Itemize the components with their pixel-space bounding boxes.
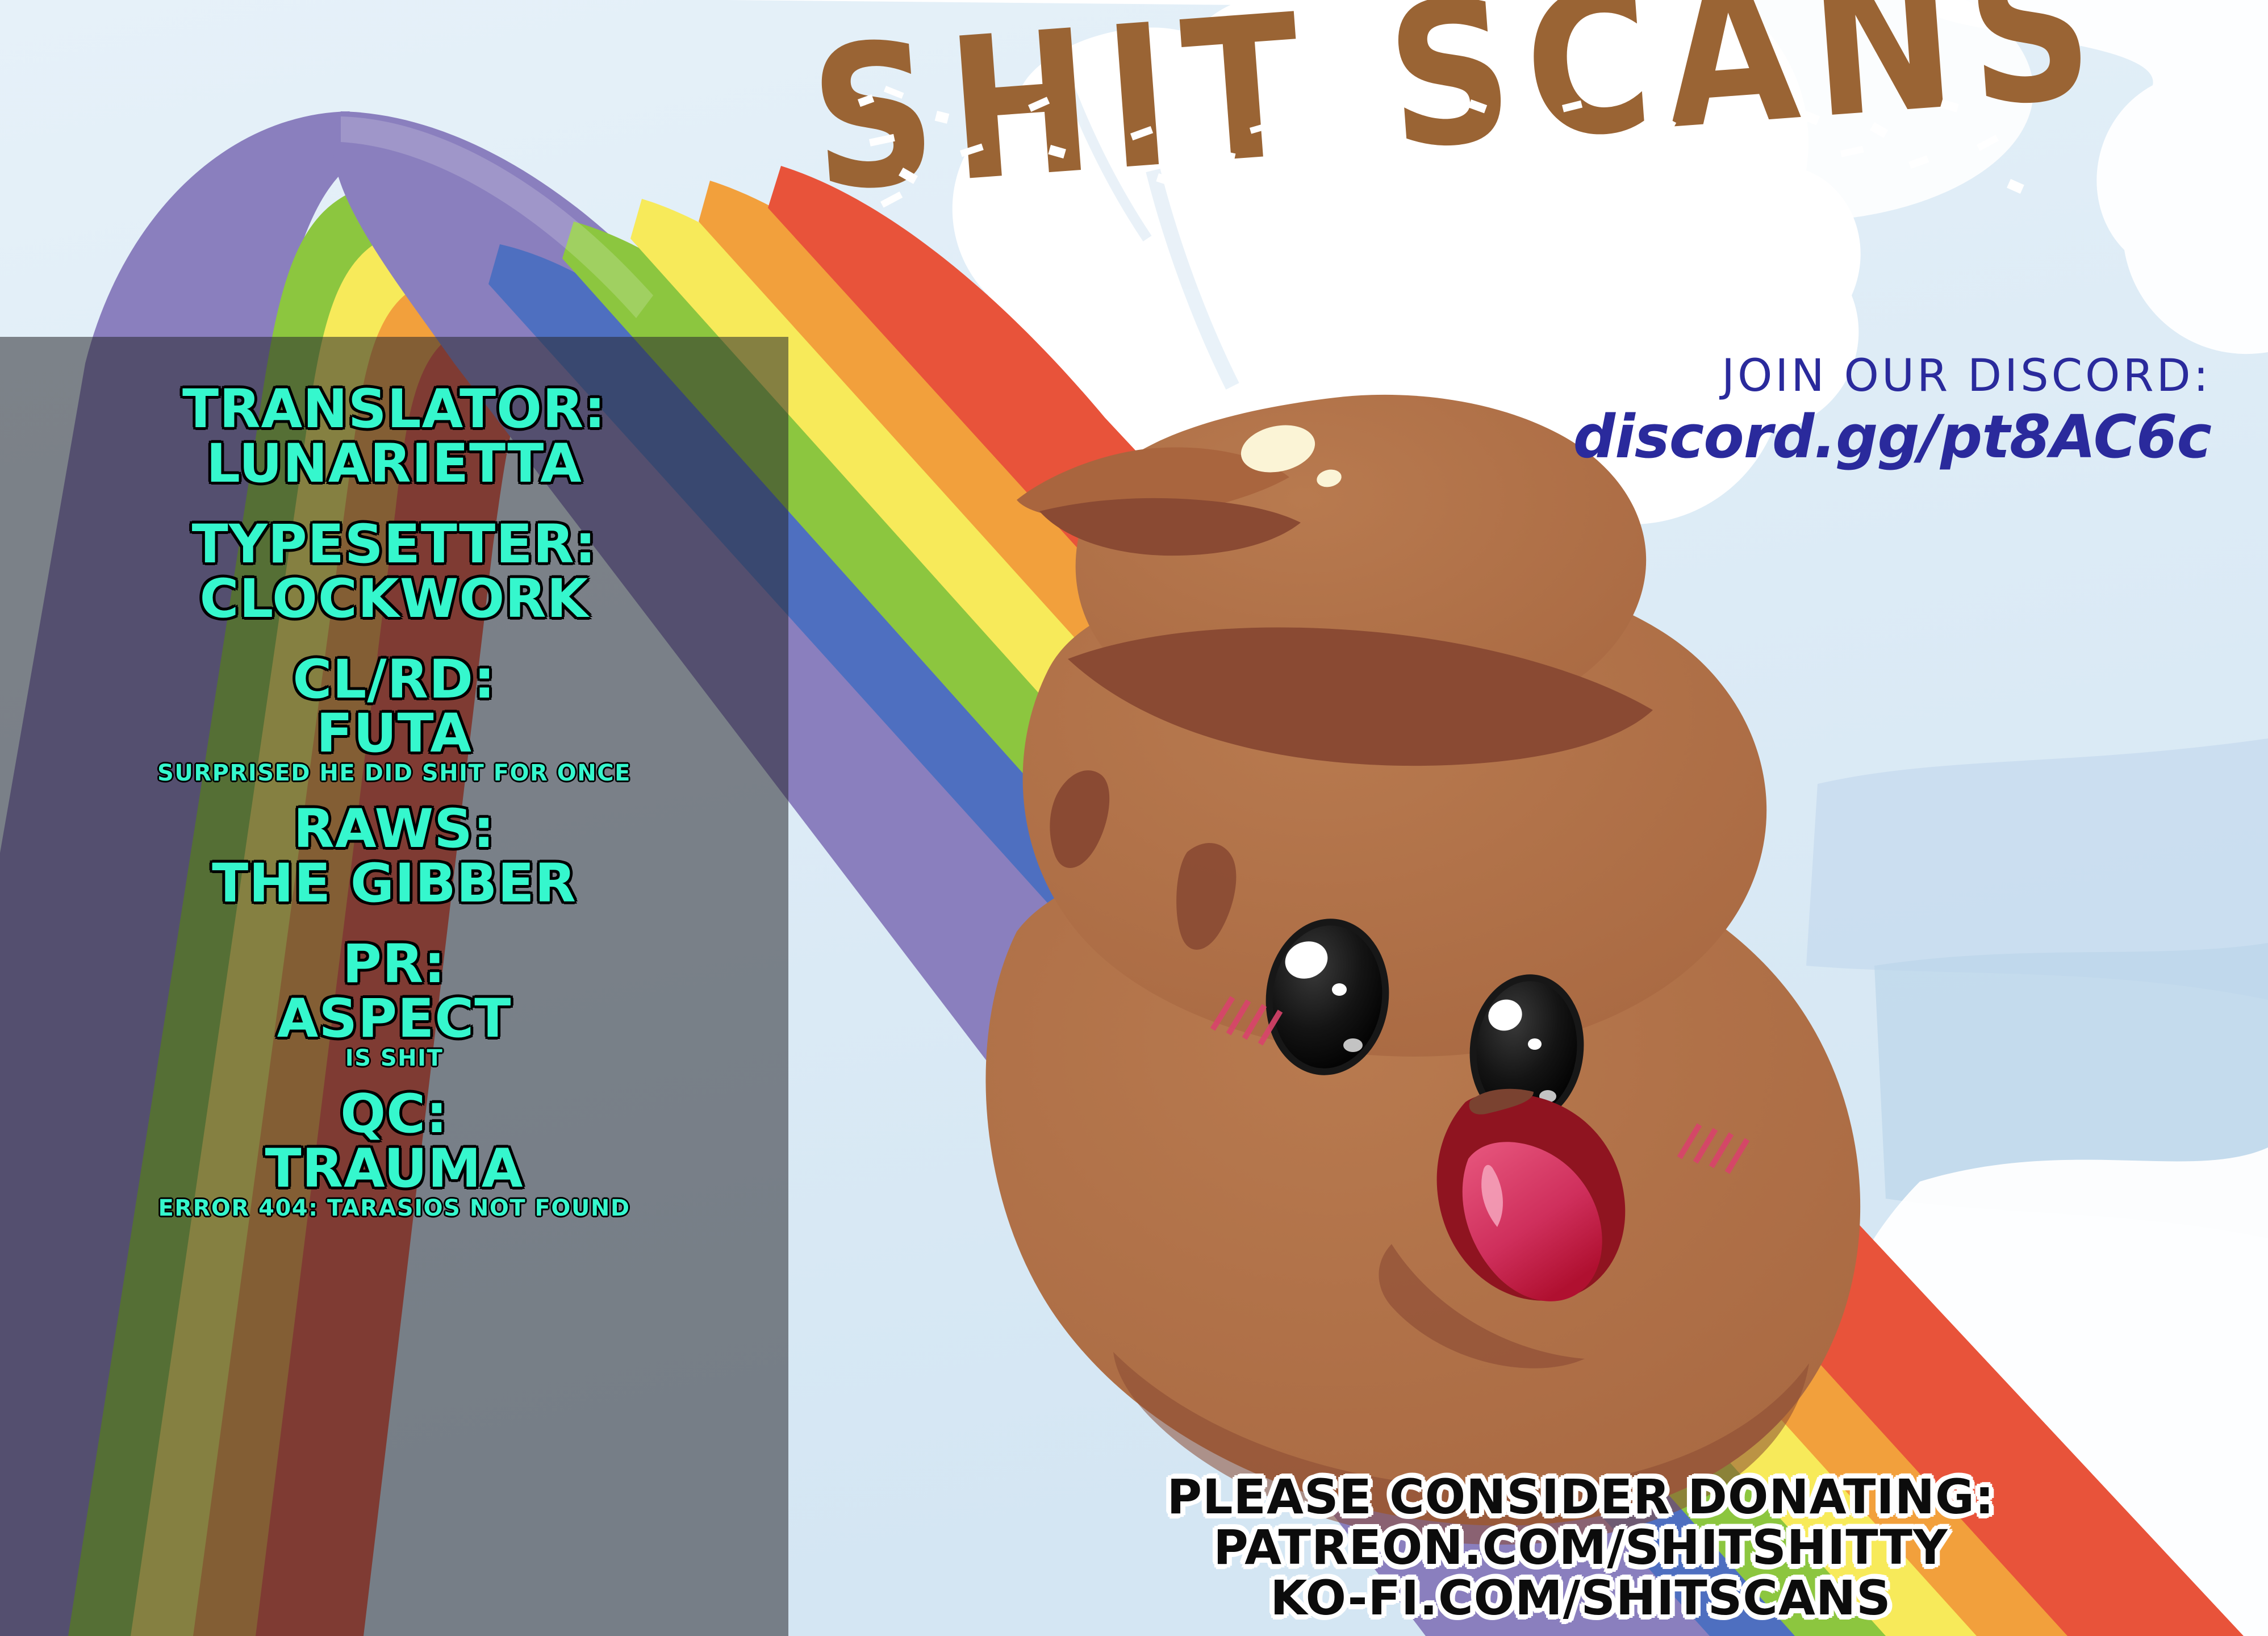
donation-block[interactable]: PLEASE CONSIDER DONATING: PATREON.COM/SH… xyxy=(928,1472,2234,1624)
group-logo: SHIT SCANS xyxy=(790,31,2244,270)
kofi-link[interactable]: KO-FI.COM/SHITSCANS xyxy=(928,1573,2234,1624)
discord-invite-block[interactable]: JOIN OUR DISCORD: discord.gg/pt8AC6c xyxy=(1473,352,2211,471)
donation-label: PLEASE CONSIDER DONATING: xyxy=(928,1472,2234,1522)
group-logo-text: SHIT SCANS xyxy=(805,0,2113,220)
discord-label: JOIN OUR DISCORD: xyxy=(1473,352,2211,401)
discord-url[interactable]: discord.gg/pt8AC6c xyxy=(1473,403,2211,471)
credits-overlay-panel xyxy=(0,337,788,1636)
chapter-credits-page: TRANSLATOR: LUNARIETTA TYPESETTER: CLOCK… xyxy=(0,0,2268,1636)
patreon-link[interactable]: PATREON.COM/SHITSHITTY xyxy=(928,1522,2234,1573)
